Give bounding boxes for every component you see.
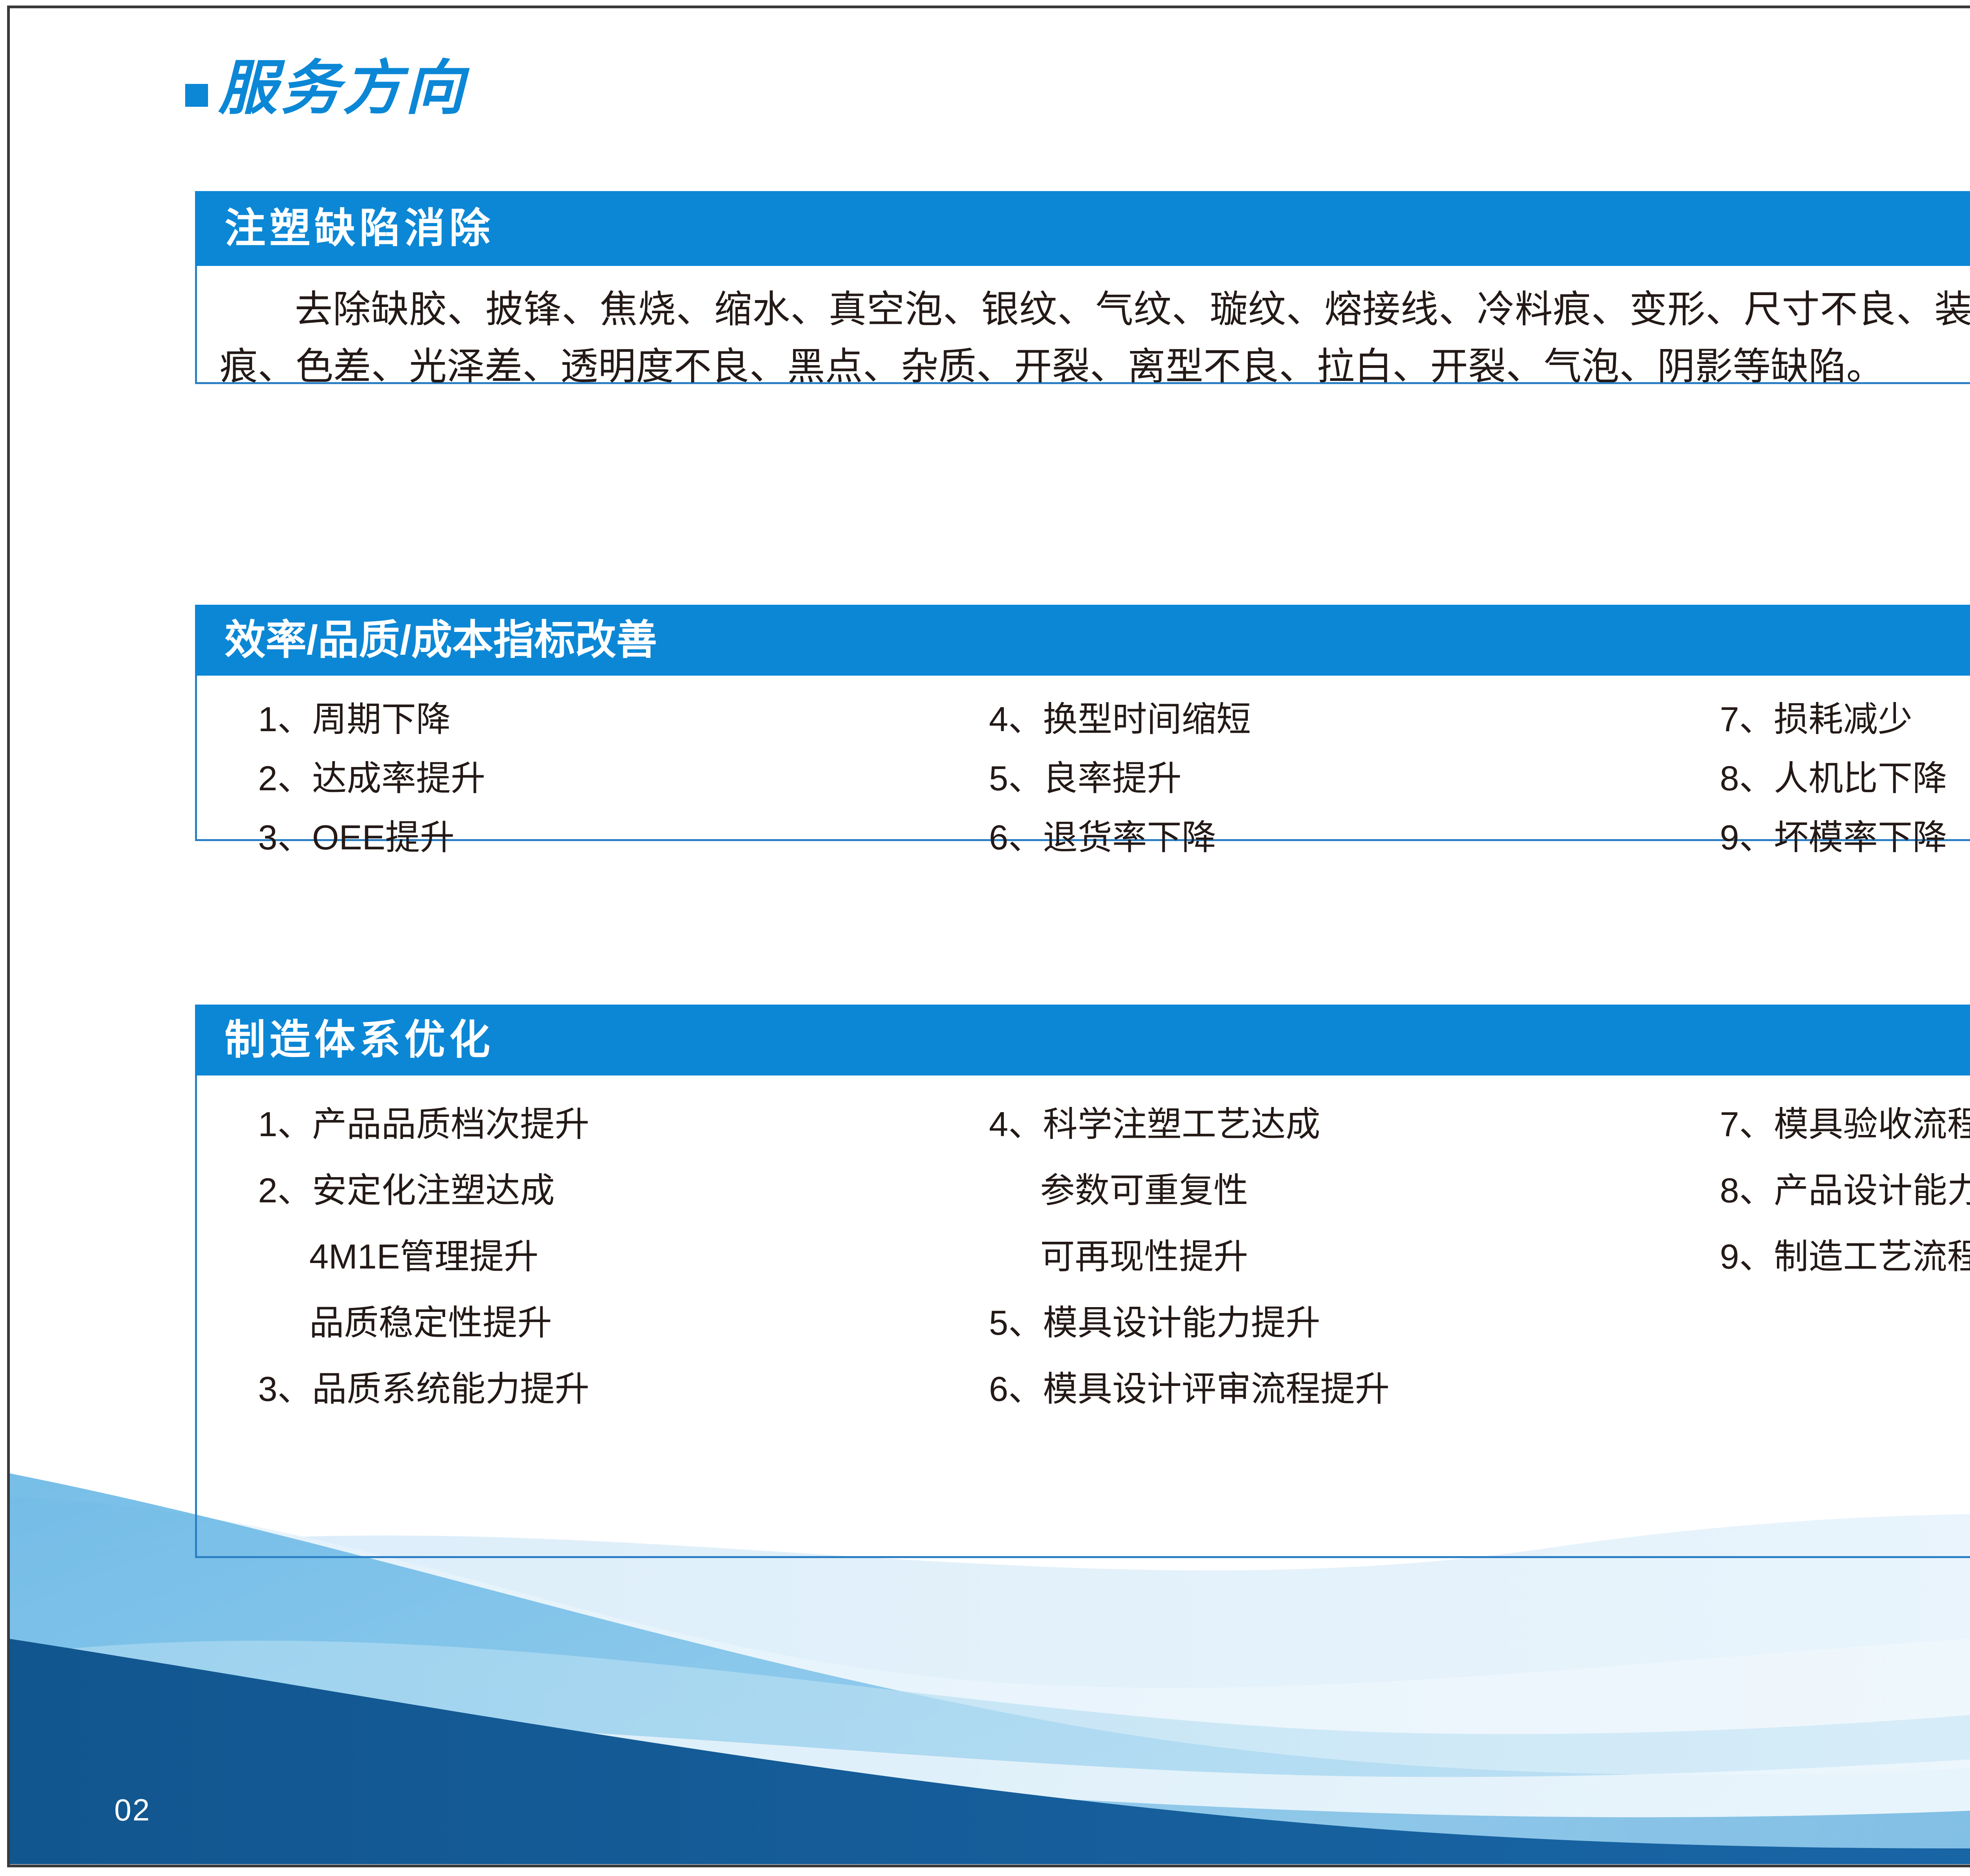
list-item: 2、达成率提升 [258,749,946,808]
card-injection-defects: 注塑缺陷消除 去除缺胶、披锋、焦烧、缩水、真空泡、银纹、气纹、璇纹、熔接线、冷料… [195,191,1970,384]
list-item: 3、OEE提升 [258,808,946,867]
kpi-column-2: 4、换型时间缩短 5、良率提升 6、退货率下降 [946,690,1676,867]
defects-paragraph: 去除缺胶、披锋、焦烧、缩水、真空泡、银纹、气纹、璇纹、熔接线、冷料痕、变形、尺寸… [197,266,1970,395]
page-title: 服务方向 [185,59,467,118]
list-item: 3、品质系统能力提升 [258,1356,946,1422]
list-item: 可再现性提升 [989,1224,1676,1290]
card-system-optimization: 制造体系优化 1、产品品质档次提升 2、安定化注塑达成 4M1E管理提升 品质稳… [195,1005,1970,1558]
list-item: 品质稳定性提升 [258,1290,946,1356]
card-body-kpi-improvement: 1、周期下降 2、达成率提升 3、OEE提升 4、换型时间缩短 5、良率提升 6… [195,676,1970,841]
list-item: 5、模具设计能力提升 [989,1290,1676,1356]
list-item: 9、坏模率下降 [1720,808,1970,867]
kpi-columns: 1、周期下降 2、达成率提升 3、OEE提升 4、换型时间缩短 5、良率提升 6… [197,690,1970,867]
list-item: 7、模具验收流程规范性提升 [1720,1091,1970,1157]
card-body-injection-defects: 去除缺胶、披锋、焦烧、缩水、真空泡、银纹、气纹、璇纹、熔接线、冷料痕、变形、尺寸… [195,266,1970,384]
system-column-2: 4、科学注塑工艺达成 参数可重复性 可再现性提升 5、模具设计能力提升 6、模具… [946,1091,1676,1422]
list-item: 4、换型时间缩短 [989,690,1676,749]
list-item: 9、制造工艺流程合理型提升 [1720,1224,1970,1290]
list-item: 参数可重复性 [989,1157,1676,1224]
list-item: 1、周期下降 [258,690,946,749]
list-item: 7、损耗减少 [1720,690,1970,749]
list-item: 4、科学注塑工艺达成 [989,1091,1676,1157]
list-item: 8、产品设计能力提升 [1720,1157,1970,1224]
list-item: 1、产品品质档次提升 [258,1091,946,1157]
page-title-text: 服务方向 [218,59,467,118]
system-column-3: 7、模具验收流程规范性提升 8、产品设计能力提升 9、制造工艺流程合理型提升 [1676,1091,1970,1422]
system-columns: 1、产品品质档次提升 2、安定化注塑达成 4M1E管理提升 品质稳定性提升 3、… [197,1091,1970,1422]
card-header-kpi-improvement: 效率/品质/成本指标改善 [195,605,1970,676]
list-item: 2、安定化注塑达成 [258,1157,946,1224]
list-item: 6、退货率下降 [989,808,1676,867]
card-header-system-optimization: 制造体系优化 [195,1005,1970,1075]
list-item: 6、模具设计评审流程提升 [989,1356,1676,1422]
card-kpi-improvement: 效率/品质/成本指标改善 1、周期下降 2、达成率提升 3、OEE提升 4、换型… [195,605,1970,841]
kpi-column-1: 1、周期下降 2、达成率提升 3、OEE提升 [197,690,946,867]
card-header-injection-defects: 注塑缺陷消除 [195,191,1970,266]
system-column-1: 1、产品品质档次提升 2、安定化注塑达成 4M1E管理提升 品质稳定性提升 3、… [197,1091,946,1422]
slide-canvas: 服务方向 注塑缺陷消除 去除缺胶、披锋、焦烧、缩水、真空泡、银纹、气纹、璇纹、熔… [0,0,1970,1876]
list-item: 8、人机比下降 [1720,749,1970,808]
kpi-column-3: 7、损耗减少 8、人机比下降 9、坏模率下降 [1676,690,1970,867]
list-item: 4M1E管理提升 [258,1224,946,1290]
card-body-system-optimization: 1、产品品质档次提升 2、安定化注塑达成 4M1E管理提升 品质稳定性提升 3、… [195,1075,1970,1558]
page-number: 02 [114,1794,151,1825]
list-item: 5、良率提升 [989,749,1676,808]
title-bullet-square-icon [185,84,208,107]
